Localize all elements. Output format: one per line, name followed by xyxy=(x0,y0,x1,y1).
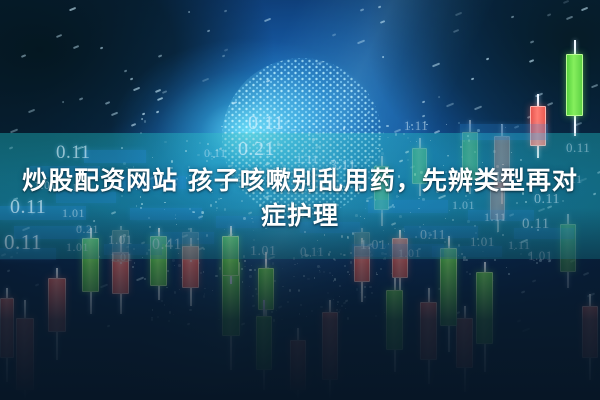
headline: 炒股配资网站 孩子咳嗽别乱用药，先辨类型再对 症护理 xyxy=(0,163,600,233)
headline-line-2: 症护理 xyxy=(8,198,592,233)
banner-image: 0.111.011.010.111.010.210.111.011.010.41… xyxy=(0,0,600,400)
headline-line-1: 炒股配资网站 孩子咳嗽别乱用药，先辨类型再对 xyxy=(8,163,592,198)
